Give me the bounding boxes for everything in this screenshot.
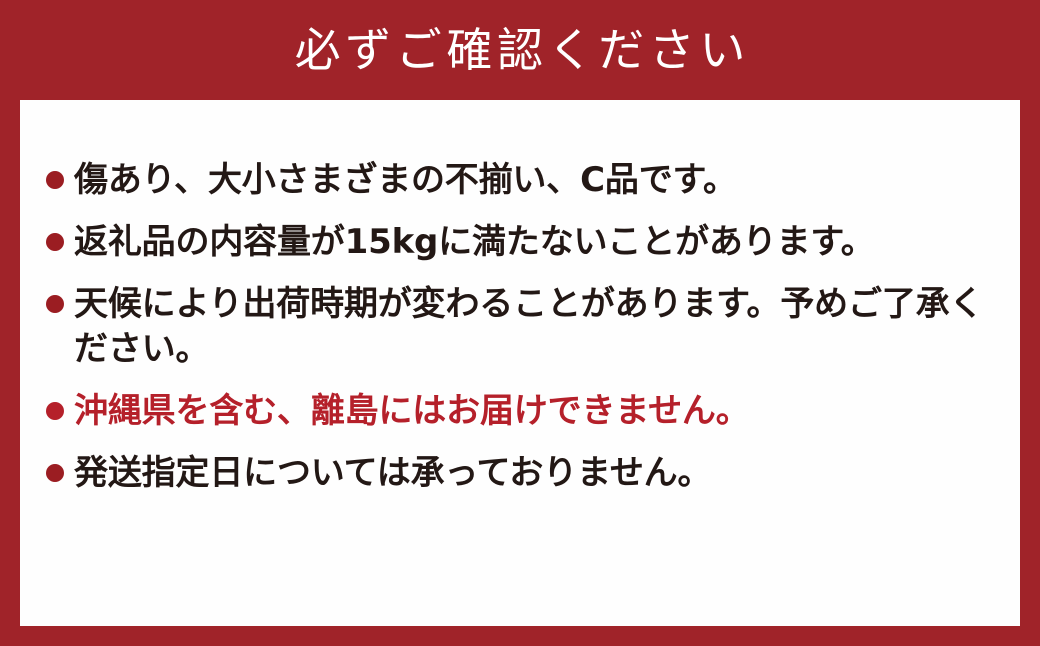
notice-text: 発送指定日については承っておりません。 [74,451,994,495]
notice-text: 返礼品の内容量が15kgに満たないことがあります。 [74,220,994,264]
list-item: 返礼品の内容量が15kgに満たないことがあります。 [46,220,994,264]
list-item: 沖縄県を含む、離島にはお届けできません。 [46,389,994,433]
bullet-dot-icon [46,402,64,420]
bullet-dot-icon [46,464,64,482]
page-title: 必ずご確認ください [290,27,750,73]
notice-panel: 傷あり、大小さまざまの不揃い、C品です。 返礼品の内容量が15kgに満たないこと… [20,100,1020,626]
notice-header: 必ずご確認ください [0,0,1040,100]
notice-text: 天候により出荷時期が変わることがあります。予めご了承ください。 [74,282,994,370]
list-item: 天候により出荷時期が変わることがあります。予めご了承ください。 [46,282,994,370]
list-item: 発送指定日については承っておりません。 [46,451,994,495]
notice-list: 傷あり、大小さまざまの不揃い、C品です。 返礼品の内容量が15kgに満たないこと… [46,158,994,495]
notice-card: 必ずご確認ください 傷あり、大小さまざまの不揃い、C品です。 返礼品の内容量が1… [0,0,1040,646]
bullet-dot-icon [46,295,64,313]
notice-text: 傷あり、大小さまざまの不揃い、C品です。 [74,158,994,202]
list-item: 傷あり、大小さまざまの不揃い、C品です。 [46,158,994,202]
notice-text-highlighted: 沖縄県を含む、離島にはお届けできません。 [74,389,994,433]
bullet-dot-icon [46,233,64,251]
bullet-dot-icon [46,171,64,189]
